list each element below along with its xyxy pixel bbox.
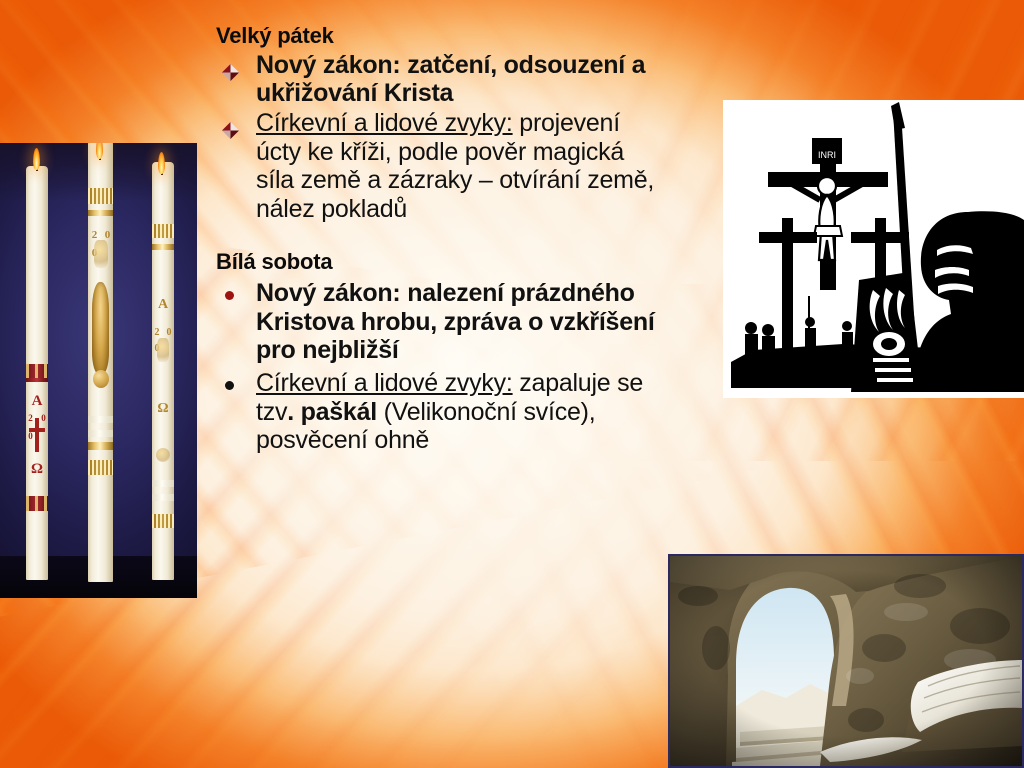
list-item-underlined-lead: Církevní a lidové zvyky: [256, 369, 513, 397]
list-item: Nový zákon: nalezení prázdného Kristova … [216, 279, 668, 365]
empty-tomb-svg [670, 556, 1022, 766]
slide-text-column: Velký pátek Nový zákon: zatčení, odsouze… [216, 24, 668, 456]
paschal-candles-photo: A 2 0 0 Ω 2 0 0 [0, 143, 197, 598]
list-item: Nový zákon: zatčení, odsouzení a ukřižov… [216, 51, 668, 108]
candle-right-flame [158, 152, 165, 174]
diamond-bullet-icon [221, 118, 240, 137]
candle-center-flame [96, 143, 103, 159]
slide-canvas: A 2 0 0 Ω 2 0 0 [0, 0, 1024, 768]
round-bullet-icon [225, 381, 234, 390]
crucifixion-clipart: INRI [723, 100, 1024, 398]
section-spacer [216, 224, 668, 250]
candle-left-flame [33, 148, 40, 170]
list-item-text: Nový zákon: zatčení, odsouzení a ukřižov… [256, 51, 645, 108]
crucifixion-svg: INRI [723, 100, 1024, 398]
bullet-list-bila-sobota: Nový zákon: nalezení prázdného Kristova … [216, 279, 668, 455]
list-item: Církevní a lidové zvyky: zapaluje se tzv… [216, 369, 668, 455]
section-heading-bila-sobota: Bílá sobota [216, 250, 668, 275]
list-item-bold-term: . paškál [287, 398, 377, 426]
diamond-bullet-icon [221, 60, 240, 79]
section-heading-velky-patek: Velký pátek [216, 24, 668, 49]
list-item: Církevní a lidové zvyky: projevení úcty … [216, 109, 668, 224]
candle-left: A 2 0 0 Ω [26, 166, 48, 580]
candle-right: A 2 0 0 Ω [152, 162, 174, 580]
svg-text:INRI: INRI [818, 150, 836, 160]
list-item-underlined-lead: Církevní a lidové zvyky: [256, 109, 513, 137]
list-item-text: Nový zákon: nalezení prázdného Kristova … [256, 279, 655, 364]
bullet-list-velky-patek: Nový zákon: zatčení, odsouzení a ukřižov… [216, 51, 668, 224]
round-bullet-icon [225, 291, 234, 300]
empty-tomb-photo [668, 554, 1024, 768]
candle-center: 2 0 0 [88, 143, 113, 582]
candle-center-gold-figure [92, 282, 109, 374]
